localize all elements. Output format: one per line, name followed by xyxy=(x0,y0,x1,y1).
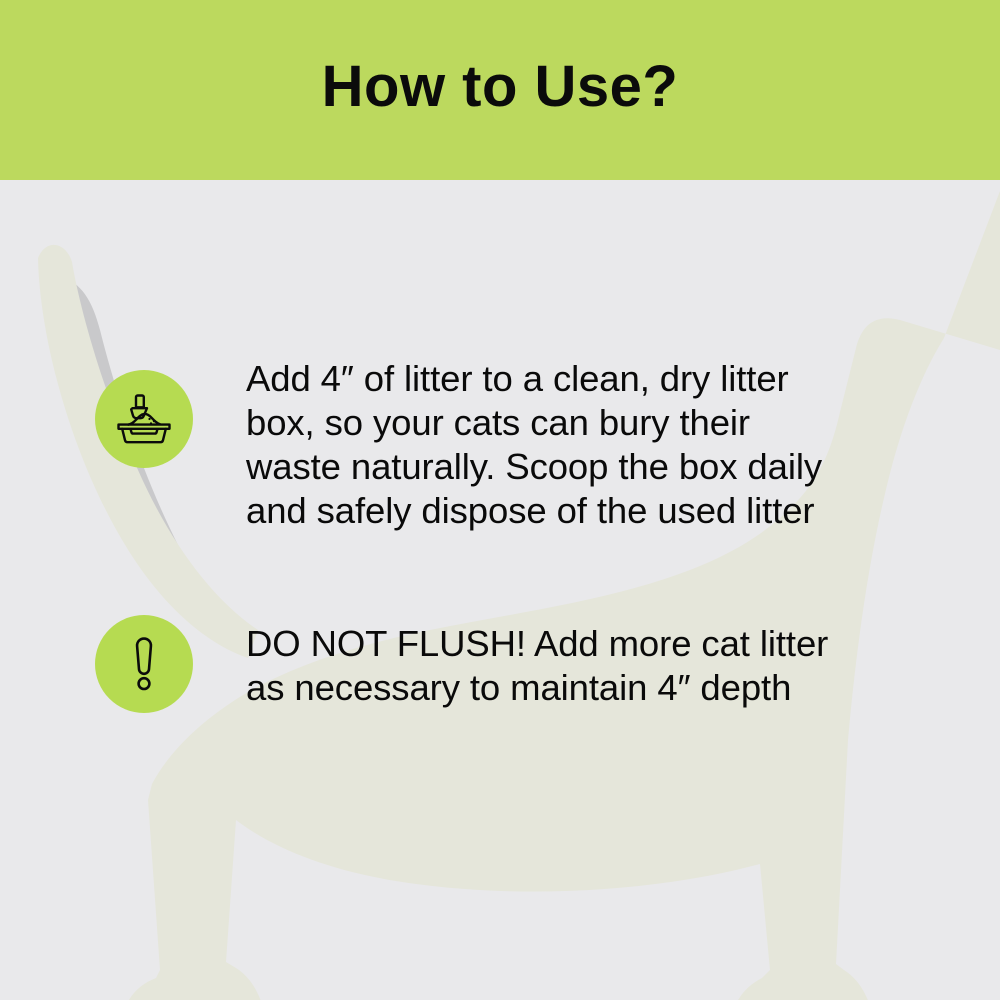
page-title: How to Use? xyxy=(322,58,679,122)
step-item: DO NOT FLUSH! Add more cat litter as nec… xyxy=(95,615,828,713)
step-text: DO NOT FLUSH! Add more cat litter as nec… xyxy=(246,622,828,710)
step-text: Add 4″ of litter to a clean, dry litter … xyxy=(246,357,822,533)
step-text-line: DO NOT FLUSH! Add more cat litter xyxy=(246,622,828,666)
steps-container: Add 4″ of litter to a clean, dry litter … xyxy=(0,180,1000,1000)
step-text-line: box, so your cats can bury their xyxy=(246,401,822,445)
step-text-line: Add 4″ of litter to a clean, dry litter xyxy=(246,357,822,401)
how-to-use-card: How to Use? xyxy=(0,0,1000,1000)
litter-box-scoop-icon xyxy=(95,370,193,468)
step-item: Add 4″ of litter to a clean, dry litter … xyxy=(95,370,822,533)
step-text-line: as necessary to maintain 4″ depth xyxy=(246,666,828,710)
step-text-line: and safely dispose of the used litter xyxy=(246,489,822,533)
exclamation-icon xyxy=(95,615,193,713)
step-text-line: waste naturally. Scoop the box daily xyxy=(246,445,822,489)
header-band: How to Use? xyxy=(0,0,1000,180)
